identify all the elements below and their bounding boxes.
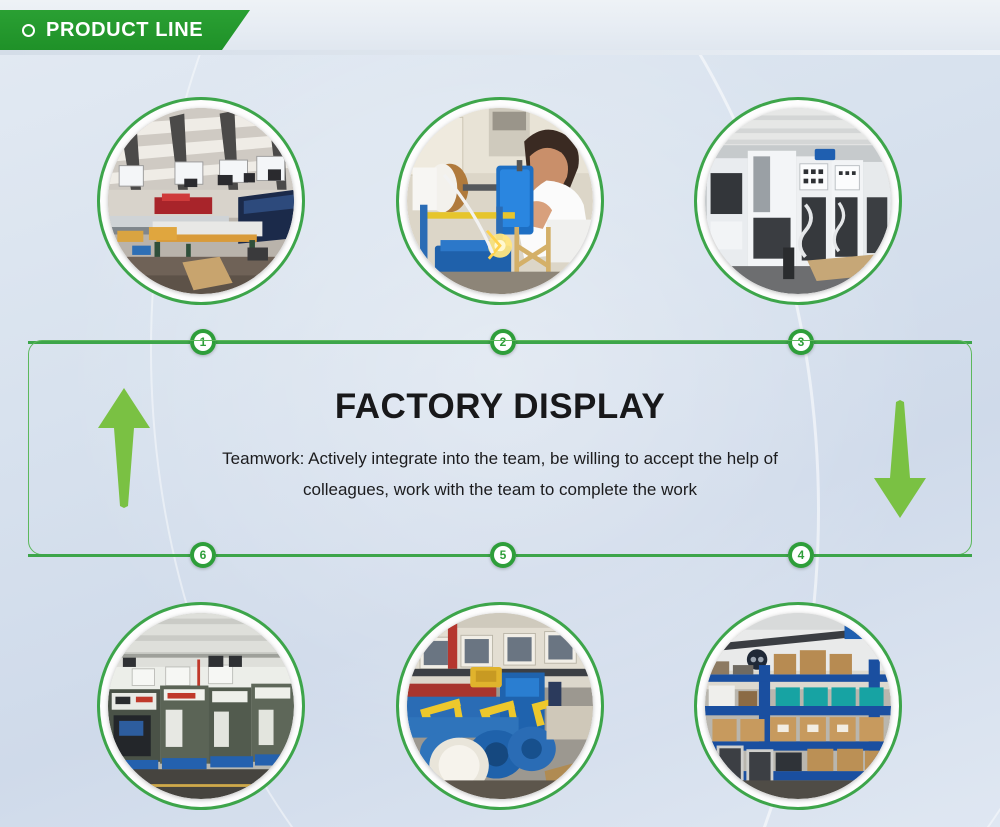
connector-line-mid-bottom-1 — [216, 554, 490, 557]
photo-5-image — [407, 613, 593, 799]
photo-3-image — [705, 108, 891, 294]
step-badge-4-number: 4 — [792, 546, 810, 564]
connector-line-mid-bottom-2 — [516, 554, 788, 557]
header-bar: PRODUCT LINE — [0, 0, 1000, 55]
step-badge-6-number: 6 — [194, 546, 212, 564]
factory-display-banner: PRODUCT LINE — [0, 0, 1000, 827]
up-arrow-icon — [96, 388, 152, 508]
page-title: PRODUCT LINE — [46, 19, 203, 42]
header-divider — [0, 50, 1000, 55]
product-line-banner: PRODUCT LINE — [0, 10, 272, 50]
photo-4-image — [705, 613, 891, 799]
step-badge-5-number: 5 — [494, 546, 512, 564]
photo-circle-5[interactable] — [396, 602, 604, 810]
step-badge-6[interactable]: 6 — [190, 542, 216, 568]
connector-line-left-bottom — [28, 554, 190, 557]
photo-circle-1[interactable] — [97, 97, 305, 305]
photo-1-image — [108, 108, 294, 294]
step-badge-4[interactable]: 4 — [788, 542, 814, 568]
connector-line-right-bottom — [814, 554, 972, 557]
down-arrow-icon — [872, 400, 928, 518]
step-badge-5[interactable]: 5 — [490, 542, 516, 568]
photo-circle-4[interactable] — [694, 602, 902, 810]
photo-circle-6[interactable] — [97, 602, 305, 810]
panel-subtitle-line-2: colleagues, work with the team to comple… — [170, 474, 830, 505]
panel-title: FACTORY DISPLAY — [170, 388, 830, 427]
ring-icon — [22, 24, 35, 37]
photo-circle-3[interactable] — [694, 97, 902, 305]
photo-6-image — [108, 613, 294, 799]
panel-text-block: FACTORY DISPLAY Teamwork: Actively integ… — [170, 388, 830, 505]
panel-subtitle-line-1: Teamwork: Actively integrate into the te… — [170, 443, 830, 474]
photo-2-image — [407, 108, 593, 294]
photo-circle-2[interactable] — [396, 97, 604, 305]
